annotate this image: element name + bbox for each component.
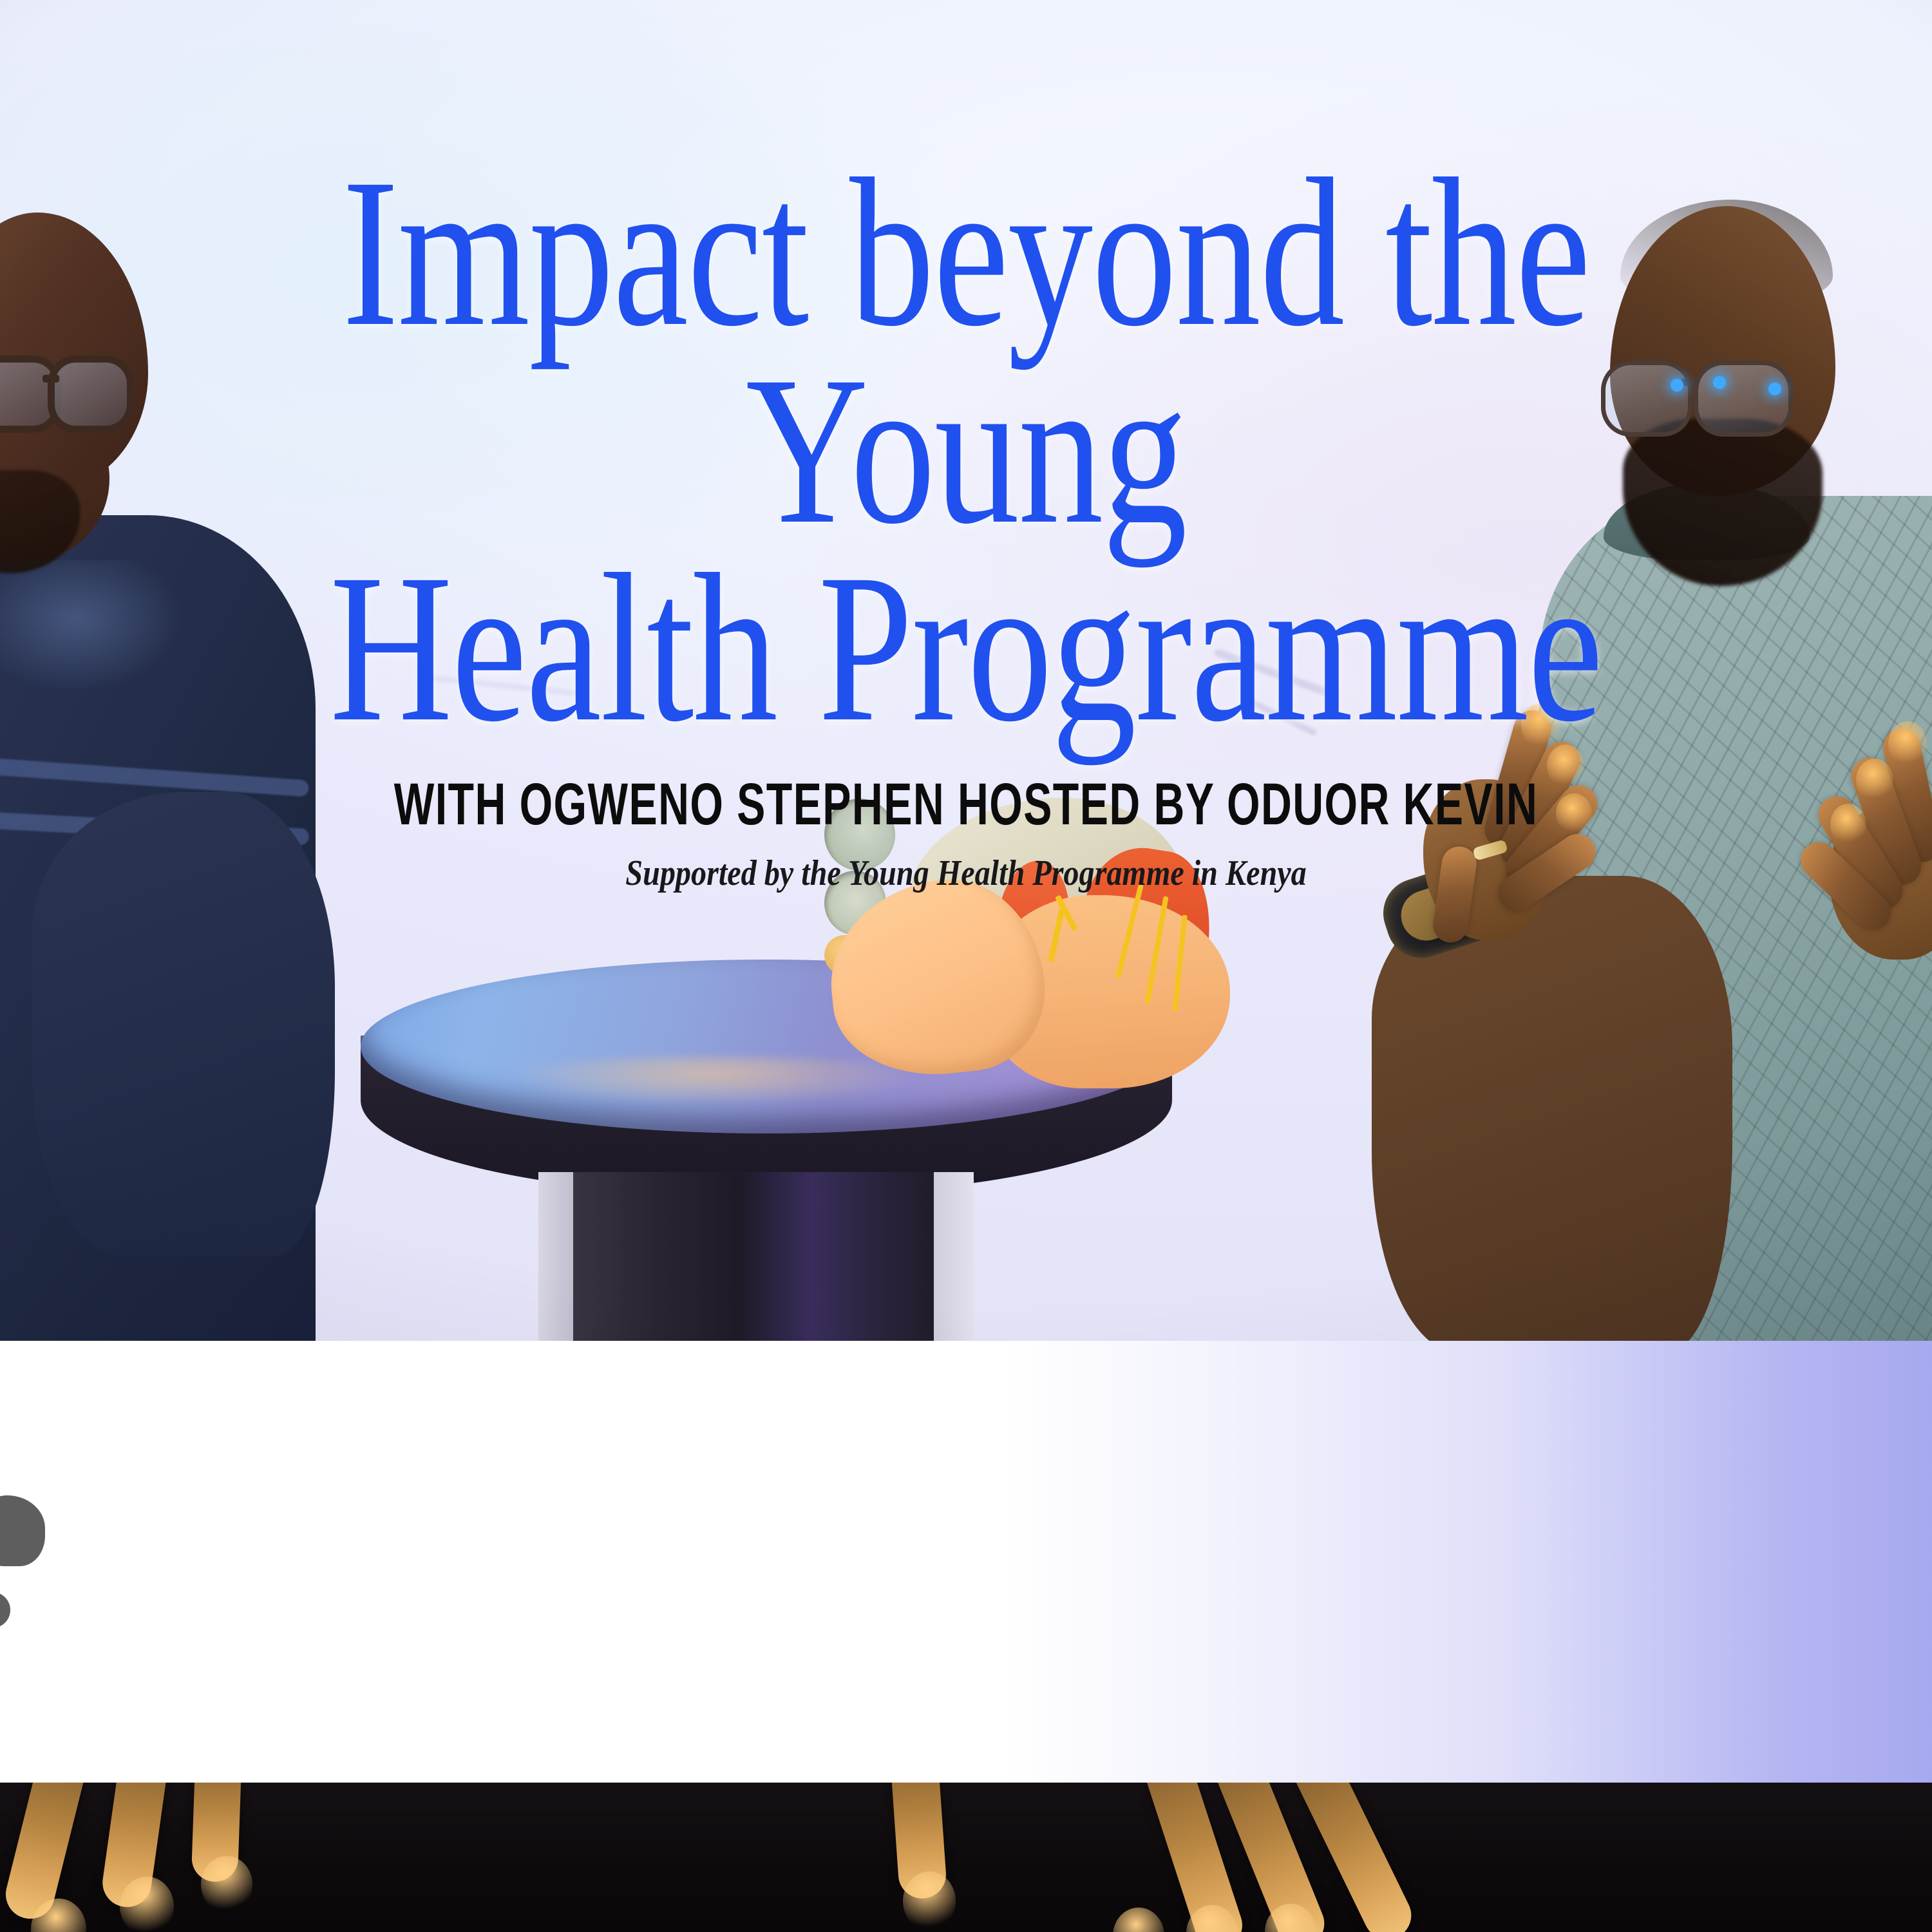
host-right-eyeglasses-lens: [1694, 361, 1793, 437]
fingertip-highlight: [1830, 804, 1866, 845]
fingertip-highlight: [1856, 759, 1893, 801]
guest-left-shoulder-highlight: [0, 560, 238, 728]
anatomical-pelvis-model: [824, 799, 1262, 1069]
host-right-hand-right: [1771, 728, 1932, 960]
table-pedestal-base: [573, 1172, 934, 1343]
eyeglass-glint: [1713, 376, 1726, 389]
bottom-video-strip: [0, 1783, 1932, 1932]
eyeglass-glint: [1768, 383, 1781, 395]
fingertip-highlight: [903, 1871, 956, 1931]
video-scene: Impact beyond the Young Health Programme…: [0, 0, 1932, 1343]
fingertip-highlight: [120, 1877, 174, 1932]
host-right-eyeglasses-lens: [1601, 361, 1692, 437]
fingertip-highlight: [1556, 793, 1592, 833]
host-right-hand-left: [1423, 708, 1636, 947]
eyeglass-glint: [1671, 379, 1683, 392]
guest-left-eyeglasses-lens: [48, 355, 134, 433]
fingertip-highlight: [1888, 721, 1927, 766]
host-right: [1410, 193, 1932, 1343]
podcast-title-card: Impact beyond the Young Health Programme…: [0, 0, 1932, 1932]
guest-left-eyeglasses-bridge: [43, 375, 59, 383]
sponsor-logo-bar: PLAN INTERNATIONAL: [0, 1341, 1932, 1783]
fingertip-highlight: [1113, 1908, 1164, 1932]
bottom-hand-left: [0, 1783, 580, 1932]
fingertip-highlight: [1521, 703, 1560, 748]
guest-left-head: [0, 213, 148, 489]
fingertip-highlight: [1547, 744, 1584, 787]
model-aperture: [824, 799, 895, 871]
bottom-hand-right: [889, 1783, 1597, 1932]
guest-left-arm: [32, 792, 335, 1256]
partner-logo-partial-icon: [0, 1495, 45, 1631]
fingertip-highlight: [201, 1856, 252, 1913]
guest-left: [0, 213, 399, 1343]
